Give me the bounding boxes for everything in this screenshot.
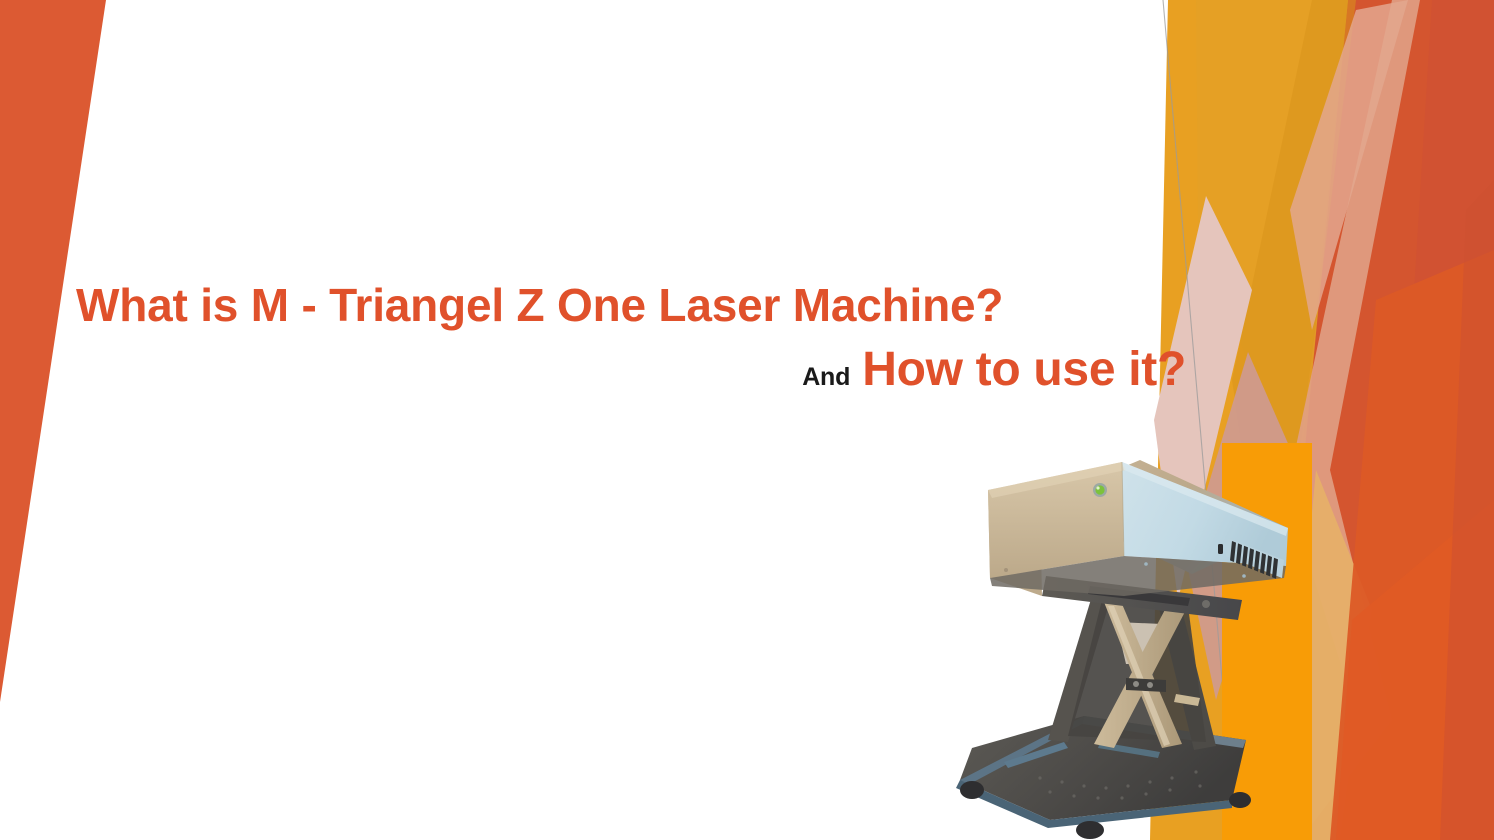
slide-title-block: What is M - Triangel Z One Laser Machine…	[0, 282, 1190, 394]
subtitle-prefix: And	[802, 363, 850, 391]
orange-backdrop-panel	[0, 0, 1494, 840]
presentation-slide: What is M - Triangel Z One Laser Machine…	[0, 0, 1494, 840]
page-title: What is M - Triangel Z One Laser Machine…	[0, 282, 1190, 328]
subtitle-main: How to use it?	[862, 343, 1186, 396]
slide-subtitle: AndHow to use it?	[0, 346, 1190, 394]
